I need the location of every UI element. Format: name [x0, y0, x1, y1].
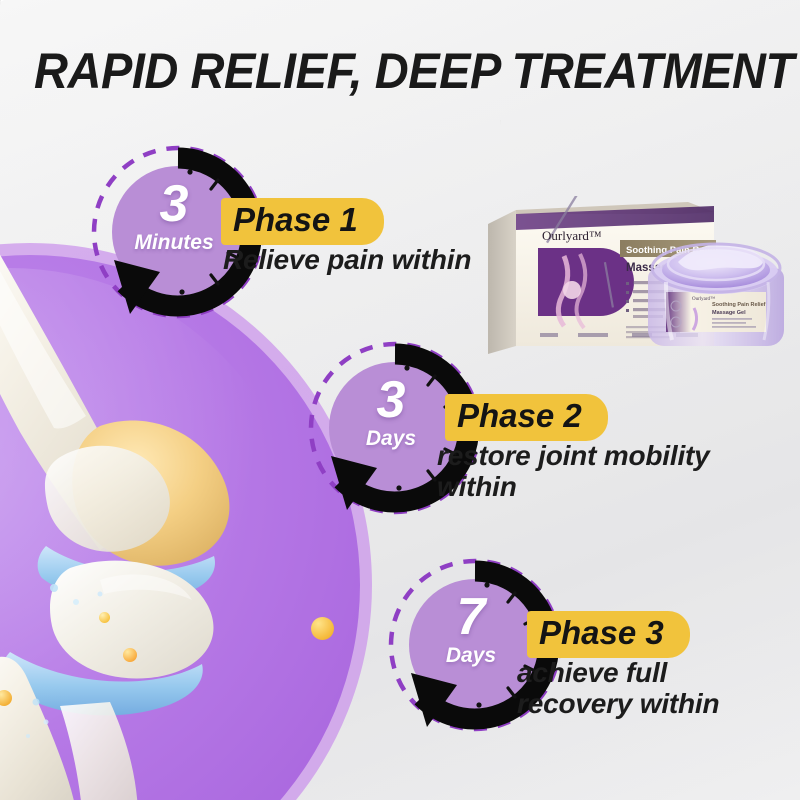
phase-badge-3: Phase 3 [527, 611, 690, 658]
phase-description-1: Relieve pain within [223, 244, 471, 275]
phase-block-2: 3 Days Phase 2 restore joint mobility wi… [295, 328, 795, 528]
page-title: RAPID RELIEF, DEEP TREATMENT [34, 46, 730, 96]
particle-dot [123, 648, 137, 662]
svg-text:Soothing Pain Relief: Soothing Pain Relief [712, 302, 766, 308]
svg-text:Massage Gel: Massage Gel [712, 310, 746, 316]
knee-joint-illustration [0, 250, 340, 800]
phase-description-3: achieve full recovery within [517, 657, 787, 720]
particle-dot [311, 617, 334, 640]
phase-block-1: 3 Minutes Phase 1 Relieve pain within [78, 132, 508, 332]
phase-badge-2: Phase 2 [445, 394, 608, 441]
phase-description-2: restore joint mobility within [437, 440, 795, 503]
svg-text:Ourlyard™: Ourlyard™ [542, 228, 602, 243]
poster-canvas: RAPID RELIEF, DEEP TREATMENT [0, 0, 800, 800]
phase-block-3: 7 Days Phase 3 achieve full recovery wit… [375, 545, 800, 765]
svg-text:Ourlyard™: Ourlyard™ [692, 296, 715, 302]
particle-dot [99, 612, 110, 623]
phase-badge-1: Phase 1 [221, 198, 384, 245]
